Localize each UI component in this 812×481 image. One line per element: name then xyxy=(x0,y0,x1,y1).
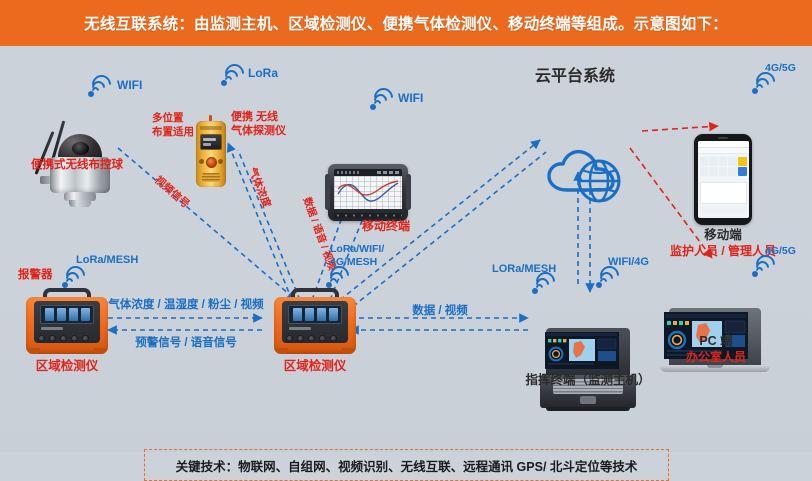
pc-client-wireless-label: 4G/5G xyxy=(765,245,796,258)
phone-app-grid xyxy=(698,154,749,179)
detector-foot-right xyxy=(94,348,106,354)
tablet-top-bezel xyxy=(334,169,402,176)
gas-detector-label-line2: 气体探测仪 xyxy=(231,125,286,139)
ptz-wireless-label: WIFI xyxy=(117,78,142,93)
key-technologies-text: 关键技术：物联网、自组网、视频识别、无线互联、远程通讯 GPS/ 北斗定位等技术 xyxy=(176,456,638,475)
rugged-screen xyxy=(545,332,619,369)
mobile-client-label: 移动端 xyxy=(704,228,742,244)
link-label-video-signal: 视频信号 xyxy=(151,174,191,211)
detector-button-right xyxy=(218,159,223,164)
tablet-grip-right xyxy=(406,174,411,210)
area-detector-right-device xyxy=(274,288,356,354)
cloud-platform-title: 云平台系统 xyxy=(535,67,615,87)
rugged-foot xyxy=(546,407,630,411)
area-detector-left-device xyxy=(26,288,108,354)
wifi-icon xyxy=(62,268,88,288)
wifi-icon xyxy=(752,257,778,277)
mobile-client-device xyxy=(694,134,752,225)
detector-grill xyxy=(202,173,220,182)
detector-brand-mark xyxy=(41,327,63,330)
mobile-terminal-wireless-label: WIFI xyxy=(398,91,423,106)
detector-brand-mark xyxy=(289,327,311,330)
command-terminal-wireless-label: WIFI/4G xyxy=(608,256,649,270)
detector-screen xyxy=(200,134,222,150)
diagram-root: 无线互联系统：由监测主机、区域检测仪、便携气体检测仪、移动终端等组成。示意图如下… xyxy=(0,0,812,452)
wifi-icon xyxy=(370,90,396,110)
area-detector-right-label: 区域检测仪 xyxy=(284,359,347,375)
pc-client-role-label: 办公室人员 xyxy=(686,350,746,365)
link-label-data-video: 数据 / 视频 xyxy=(412,304,468,318)
phone-app-chart xyxy=(700,182,747,204)
link-label-lora-wifi-1: LoRa/WIFI/ xyxy=(330,243,384,256)
page-title: 无线互联系统：由监测主机、区域检测仪、便携气体检测仪、移动终端等组成。示意图如下… xyxy=(84,12,728,34)
mobile-client-wireless-label: 4G/5G xyxy=(765,62,796,75)
area-detector-left-label: 区域检测仪 xyxy=(36,359,99,375)
gas-detector-wireless-label: LoRa xyxy=(248,66,278,81)
command-terminal-label: 指挥终端（监测主机） xyxy=(525,373,650,389)
detector-foot-right xyxy=(342,348,354,354)
page-header: 无线互联系统：由监测主机、区域检测仪、便携气体检测仪、移动终端等组成。示意图如下… xyxy=(0,0,812,46)
key-technologies-box: 关键技术：物联网、自组网、视频识别、无线互联、远程通讯 GPS/ 北斗定位等技术 xyxy=(144,449,669,481)
detector-foot-left xyxy=(276,348,288,354)
ptz-camera-label: 便携式无线布控球 xyxy=(31,158,123,172)
detector-button-left xyxy=(199,159,204,164)
wifi-icon xyxy=(596,268,622,288)
detector-button-row xyxy=(38,335,89,342)
link-label-alarm-downlink: 预警信号 / 语音信号 xyxy=(135,336,237,350)
link-label-sensor-uplink: 气体浓度 / 温湿度 / 粉尘 / 视频 xyxy=(108,298,263,312)
pc-client-label: PC 端 xyxy=(699,334,732,350)
phone-screen xyxy=(698,141,749,218)
phone-app-navbar xyxy=(698,141,749,148)
diagram-canvas: WIFI 便携式无线布控球 LoRa 便携 无线 气体探测仪 多位置 布置适用 … xyxy=(0,46,812,452)
wifi-icon xyxy=(88,77,114,97)
gas-detector-note-line1: 多位置 xyxy=(152,112,184,125)
portable-gas-detector-device xyxy=(196,121,226,187)
detector-display xyxy=(40,305,94,324)
wifi-icon xyxy=(326,268,352,288)
gas-detector-label-line1: 便携 无线 xyxy=(231,111,278,125)
laptop-notch xyxy=(707,365,723,368)
tablet-bottom-bezel xyxy=(334,213,402,218)
detector-display xyxy=(288,305,342,324)
camera-lens xyxy=(72,142,89,155)
wifi-icon xyxy=(532,274,558,294)
camera-base xyxy=(69,200,91,207)
command-terminal-wireless2-label: LORa/MESH xyxy=(492,263,556,277)
detector-foot-left xyxy=(28,348,40,354)
command-terminal-device xyxy=(540,328,636,412)
cloud-platform-icon xyxy=(543,144,639,208)
phone-speaker xyxy=(718,137,728,139)
mobile-terminal-device xyxy=(328,164,408,221)
alarm-label: 报警器 xyxy=(18,268,53,282)
phone-app-footer xyxy=(700,207,747,213)
rugged-touchpad xyxy=(580,396,596,404)
alarm-wireless-label: LoRa/MESH xyxy=(76,254,138,268)
wifi-icon xyxy=(221,66,247,86)
detector-top-strip xyxy=(200,126,222,130)
detector-power-button xyxy=(206,157,217,168)
link-label-gas-concentration: 气体浓度 xyxy=(245,166,273,210)
tablet-screen xyxy=(334,176,402,209)
detector-button-row xyxy=(286,335,337,342)
gas-detector-note-line2: 布置适用 xyxy=(152,126,194,139)
wifi-icon xyxy=(752,74,778,94)
tablet-grip-left xyxy=(325,174,330,210)
mobile-terminal-label: 移动终端 xyxy=(362,219,410,234)
